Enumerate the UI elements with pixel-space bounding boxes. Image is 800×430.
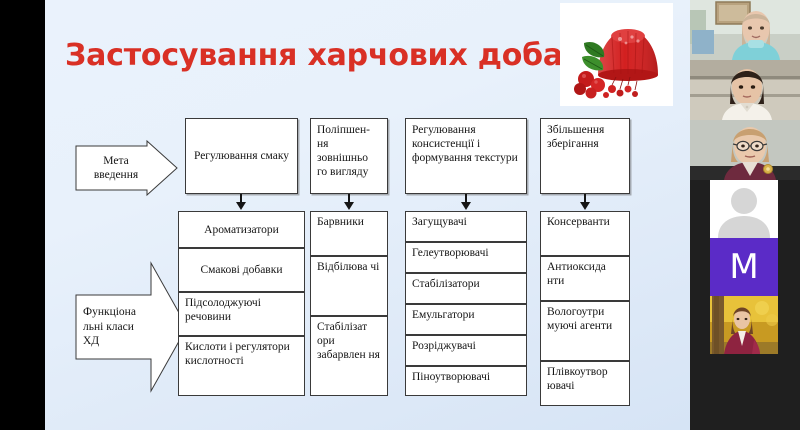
list-item: Відбілюва чі — [310, 256, 388, 316]
list-item: Барвники — [310, 211, 388, 256]
list-item: Антиоксида нти — [540, 256, 630, 301]
flowchart: Мета введення Функціона льні класи ХД Ре… — [45, 0, 690, 430]
list-item: Піноутворювачі — [405, 366, 527, 396]
participant-initial-letter: M — [729, 250, 758, 284]
presentation-slide: Застосування харчових добавок — [45, 0, 690, 430]
list-item: Ароматизатори — [178, 211, 305, 248]
column-header-appearance: Поліпшен-ня зовнішньо го вигляду — [310, 118, 388, 194]
video-participant-rail[interactable]: M — [690, 0, 800, 430]
person-silhouette-icon — [710, 180, 778, 238]
callout-classes: Функціона льні класи ХД — [75, 262, 188, 392]
arrow-down-storage — [579, 194, 591, 211]
list-item: Вологоутри муючі агенти — [540, 301, 630, 361]
callout-purpose: Мета введення — [75, 140, 178, 196]
list-item: Плівкоутвор ювачі — [540, 361, 630, 406]
participant-tile[interactable] — [710, 296, 778, 354]
participant-initial-tile[interactable]: M — [710, 238, 778, 296]
arrow-down-appearance — [343, 194, 355, 211]
list-item: Консерванти — [540, 211, 630, 256]
list-item: Кислоти і регулятори кислотності — [178, 336, 305, 396]
list-item: Стабілізат ори забарвлен ня — [310, 316, 388, 396]
list-item: Підсолоджуючі речовини — [178, 292, 305, 336]
screen-capture: Застосування харчових добавок — [0, 0, 800, 430]
list-item: Смакові добавки — [178, 248, 305, 292]
column-header-taste: Регулювання смаку — [185, 118, 298, 194]
participant-avatar-placeholder[interactable] — [710, 180, 778, 238]
list-item: Гелеутворювачі — [405, 242, 527, 273]
participant-tile[interactable] — [690, 0, 800, 60]
column-header-consistency: Регулювання консистенції і формування те… — [405, 118, 527, 194]
list-item: Емульгатори — [405, 304, 527, 335]
column-header-storage: Збільшення зберігання — [540, 118, 630, 194]
participant-tile[interactable] — [690, 60, 800, 120]
list-item: Загущувачі — [405, 211, 527, 242]
list-item: Стабілізатори — [405, 273, 527, 304]
arrow-down-taste — [235, 194, 247, 211]
arrow-down-consistency — [460, 194, 472, 211]
participant-tile[interactable] — [690, 120, 800, 180]
list-item: Розріджувачі — [405, 335, 527, 366]
